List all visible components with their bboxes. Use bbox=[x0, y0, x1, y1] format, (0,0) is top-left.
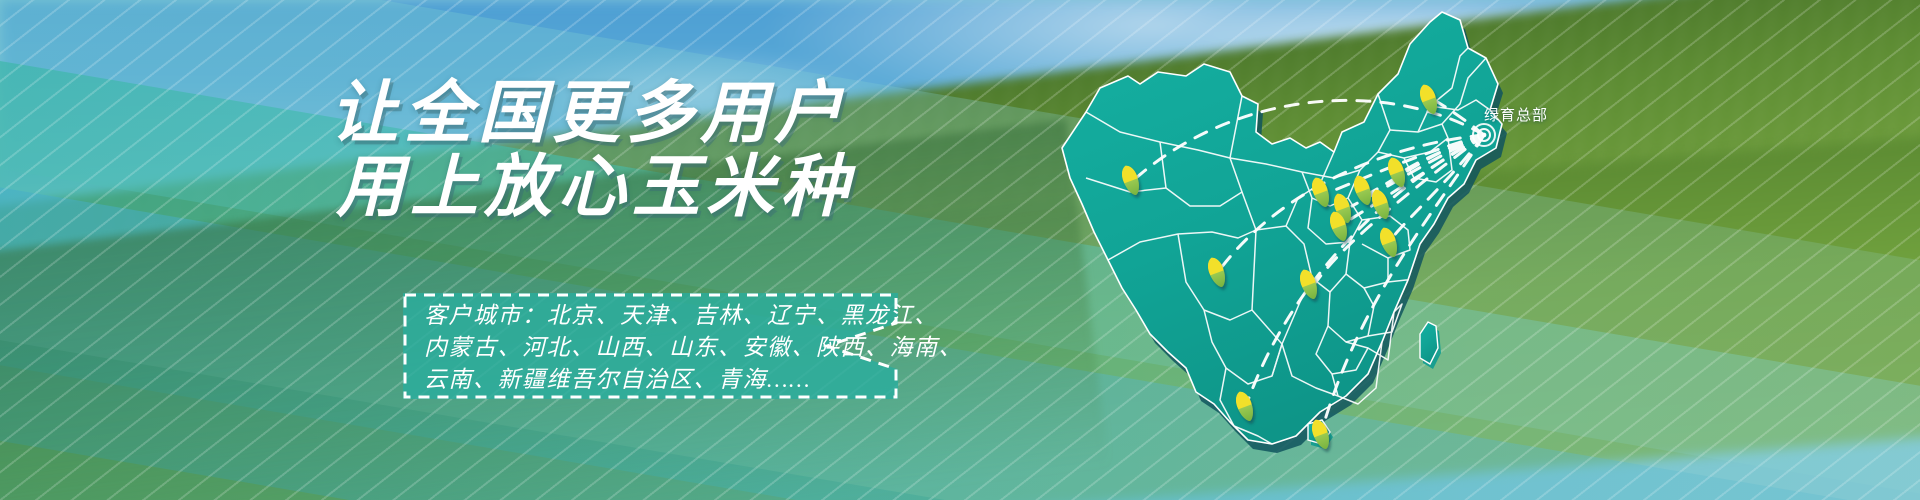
promo-banner: 让全国更多用户 用上放心玉米种 客户城市：北京、天津、吉林、辽宁、黑龙江、 内蒙… bbox=[0, 0, 1920, 500]
customer-cities-line-2: 内蒙古、河北、山西、山东、安徽、陕西、海南、 bbox=[424, 332, 963, 364]
taiwan-island bbox=[1420, 322, 1441, 369]
hairline-stripes bbox=[0, 0, 1920, 500]
customer-cities-text: 客户城市：北京、天津、吉林、辽宁、黑龙江、 内蒙古、河北、山西、山东、安徽、陕西… bbox=[424, 300, 963, 396]
customer-cities-line-1: 客户城市：北京、天津、吉林、辽宁、黑龙江、 bbox=[424, 300, 963, 332]
china-map bbox=[990, 0, 1610, 492]
headquarters-label: 绿育总部 bbox=[1484, 104, 1548, 125]
china-map-svg bbox=[990, 0, 1610, 492]
headline-line-2: 用上放心玉米种 bbox=[330, 150, 854, 224]
headline: 让全国更多用户 用上放心玉米种 bbox=[330, 76, 854, 224]
customer-cities-line-3: 云南、新疆维吾尔自治区、青海…… bbox=[424, 364, 963, 396]
headline-line-1: 让全国更多用户 bbox=[330, 76, 854, 150]
